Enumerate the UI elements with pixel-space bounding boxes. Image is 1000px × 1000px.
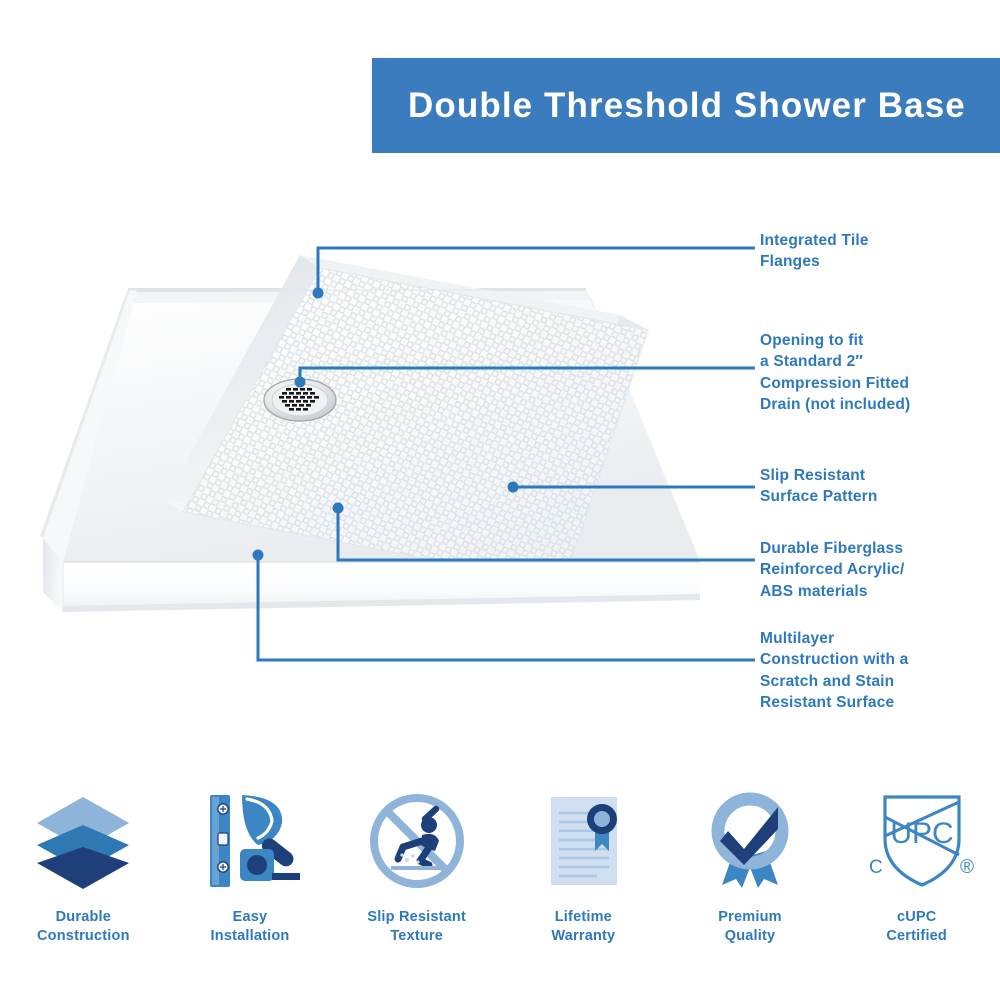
feature-label-line: Construction [37,927,130,946]
no-slip-icon [365,782,469,900]
basin-floor [183,268,648,585]
feature-label-line: Durable [37,908,130,927]
callout-line: Drain (not included) [760,394,1000,415]
callout-line: a Standard 2″ [760,351,1000,372]
back-flange-riser [128,290,592,303]
layers-icon [31,782,135,900]
certificate-rosette-icon [531,782,635,900]
feature-label-line: Warranty [551,927,615,946]
inner-wall-front [165,500,563,585]
callout-line: Slip Resistant [760,465,1000,486]
feature-label: Slip Resistant Texture [367,908,466,946]
feature-premium-quality: Premium Quality [667,782,834,962]
callout-line: Resistant Surface [760,692,1000,713]
callout-line: Construction with a [760,649,1000,670]
anchor-dot-integrated-tile-flanges [313,288,324,299]
upc-right-mark: ® [960,857,974,878]
upc-shield-text: UPC [890,817,953,850]
leader-line-multilayer-construction [258,555,755,660]
feature-cupc-certified: UPC C ® cUPC Certified [833,782,1000,962]
callout-line: Scratch and Stain [760,671,1000,692]
feature-strip: Durable Construction [0,782,1000,962]
inner-wall-left [165,255,320,512]
feature-durable-construction: Durable Construction [0,782,167,962]
callout-line: Compression Fitted [760,373,1000,394]
inner-wall-right [540,315,648,585]
feature-label-line: Certified [886,927,947,946]
anchor-dot-multilayer-construction [253,550,264,561]
upc-left-mark: C [869,857,883,878]
chrome-drain-grate [264,379,336,421]
feature-label-line: cUPC [886,908,947,927]
leader-line-integrated-tile-flanges [318,248,755,293]
callout-line: Durable Fiberglass [760,538,1000,559]
feature-label-line: Installation [211,927,290,946]
callout-integrated-tile-flanges: Integrated Tile Flanges [760,230,1000,273]
right-flange-riser [586,290,700,562]
feature-label: Premium Quality [718,908,781,946]
feature-label: Easy Installation [211,908,290,946]
left-flange-outer-edge [40,288,130,538]
leader-line-durable-materials [338,508,755,560]
feature-label-line: Easy [211,908,290,927]
callout-line: Opening to fit [760,330,1000,351]
feature-easy-installation: Easy Installation [167,782,334,962]
left-threshold-face [43,538,63,612]
page-title: Double Threshold Shower Base [372,86,966,126]
leader-anchor-dots [253,288,519,561]
callout-drain-opening: Opening to fit a Standard 2″ Compression… [760,330,1000,416]
front-threshold-bottom-shadow [63,594,700,612]
callout-line: Flanges [760,251,1000,272]
callout-line: Multilayer [760,628,1000,649]
callout-multilayer-construction: Multilayer Construction with a Scratch a… [760,628,1000,714]
checkmark-rosette-icon [698,782,802,900]
feature-label-line: Premium [718,908,781,927]
front-threshold-face [63,562,700,612]
feature-slip-resistant-texture: Slip Resistant Texture [333,782,500,962]
inner-wall-back [300,255,648,330]
title-banner: Double Threshold Shower Base [372,58,1000,153]
feature-label: Durable Construction [37,908,130,946]
callout-line: Reinforced Acrylic/ [760,559,1000,580]
slip-resistant-surface-pattern [150,240,690,620]
anchor-dot-drain-opening [295,377,306,388]
callout-line: ABS materials [760,581,1000,602]
feature-label: cUPC Certified [886,908,947,946]
callout-line: Surface Pattern [760,486,1000,507]
leader-line-drain-opening [300,368,755,382]
anchor-dot-durable-materials [333,503,344,514]
feature-label-line: Texture [367,927,466,946]
level-trowel-tape-icon [198,782,302,900]
basin-floor-outline [183,268,648,585]
callout-slip-resistant-surface-pattern: Slip Resistant Surface Pattern [760,465,1000,508]
infographic-page: Double Threshold Shower Base [0,0,1000,1000]
feature-label-line: Lifetime [551,908,615,927]
callout-durable-fiberglass-materials: Durable Fiberglass Reinforced Acrylic/ A… [760,538,1000,602]
feature-label-line: Slip Resistant [367,908,466,927]
feature-lifetime-warranty: Lifetime Warranty [500,782,667,962]
back-flange-top-edge [128,288,586,292]
callout-line: Integrated Tile [760,230,1000,251]
left-flange-top [43,290,137,562]
feature-label-line: Quality [718,927,781,946]
tile-flange-top-surface [63,290,700,562]
upc-shield-icon: UPC C ® [859,782,975,900]
anchor-dot-slip-resistant [508,482,519,493]
feature-label: Lifetime Warranty [551,908,615,946]
